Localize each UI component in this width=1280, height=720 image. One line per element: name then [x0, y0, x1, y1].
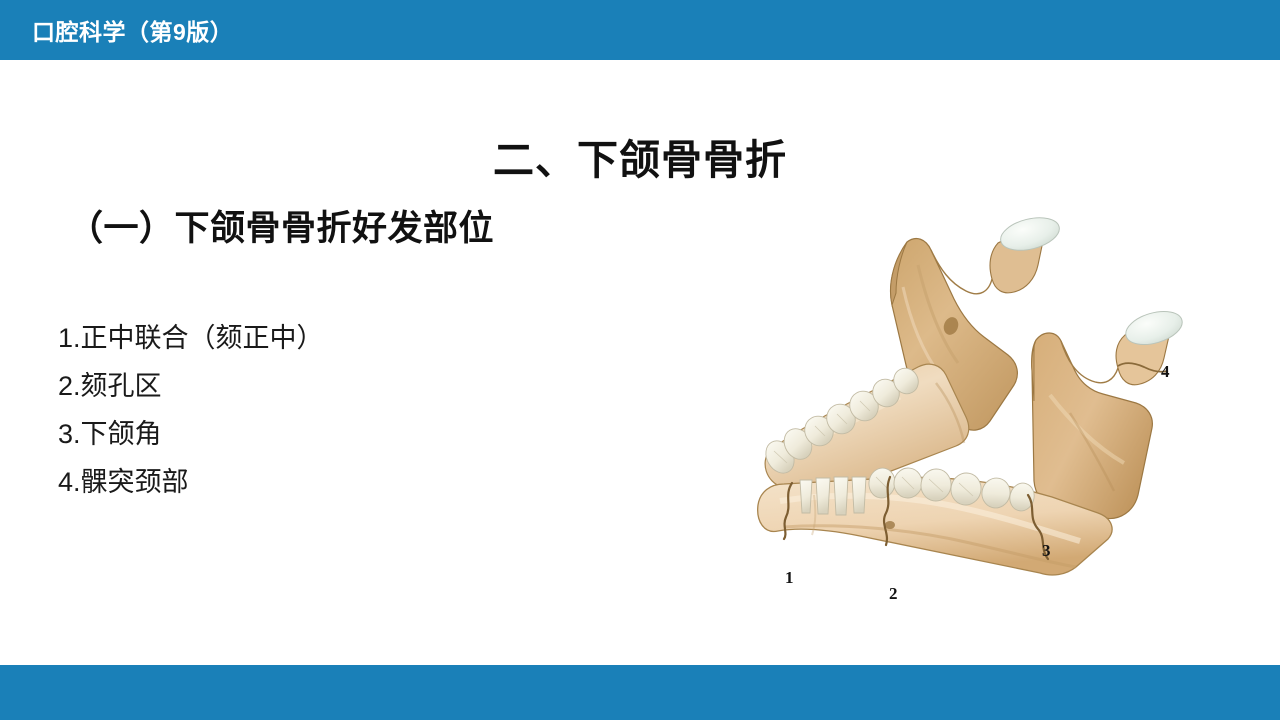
- tooth: [852, 477, 866, 513]
- header-title: 口腔科学（第9版）: [32, 13, 233, 47]
- figure-label-4: 4: [1161, 362, 1170, 382]
- header-bar-accent: [0, 48, 1280, 60]
- figure-label-2: 2: [889, 584, 898, 604]
- tooth: [816, 478, 830, 514]
- slide-subtitle: （一）下颌骨骨折好发部位: [68, 200, 494, 251]
- mandible-illustration: [740, 195, 1210, 625]
- figure-label-3: 3: [1042, 541, 1051, 561]
- near-ramus-group: [1032, 306, 1186, 519]
- footer-bar: [0, 665, 1280, 720]
- mandible-svg: [740, 195, 1210, 625]
- mental-foramen: [885, 521, 895, 529]
- figure-label-1: 1: [785, 568, 794, 588]
- fracture-site-list: 1.正中联合（颏正中） 2.颏孔区 3.下颌角 4.髁突颈部: [58, 314, 478, 506]
- tooth: [800, 480, 812, 513]
- tooth: [834, 477, 848, 515]
- list-item: 4.髁突颈部: [58, 458, 478, 506]
- list-item: 2.颏孔区: [58, 362, 478, 410]
- list-item: 3.下颌角: [58, 410, 478, 458]
- list-item: 1.正中联合（颏正中）: [58, 314, 478, 362]
- slide-title: 二、下颌骨骨折: [0, 126, 1280, 186]
